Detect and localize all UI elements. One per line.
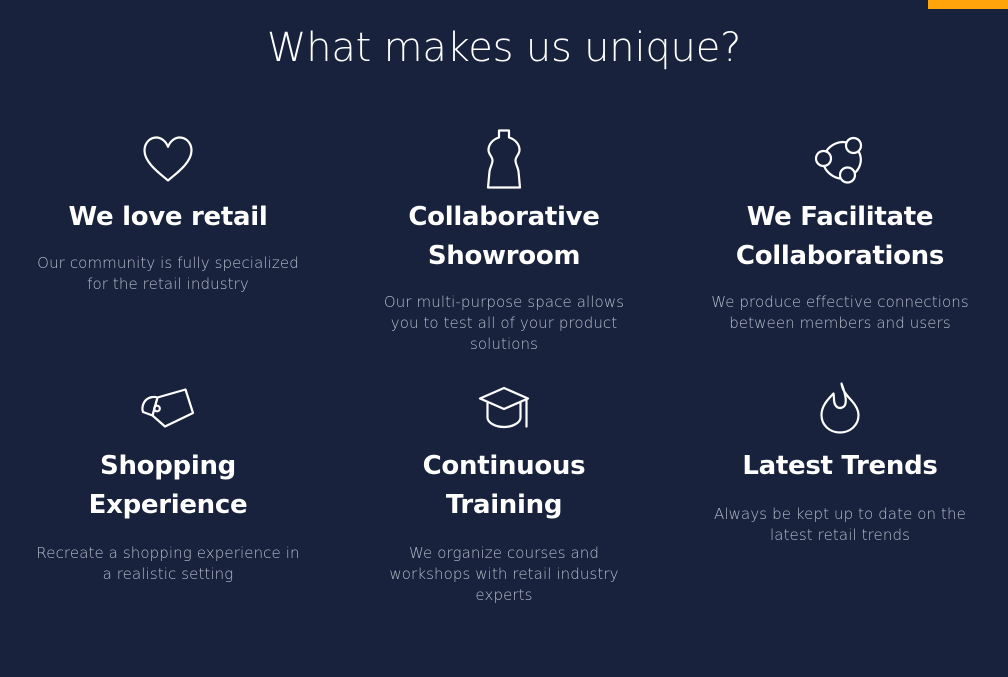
feature-title: We love retail xyxy=(28,198,308,237)
feature-description: We organize courses and workshops with r… xyxy=(364,543,644,606)
feature-card-continuous-training: Continuous Training We organize courses … xyxy=(336,369,672,606)
feature-title: Latest Trends xyxy=(700,447,980,486)
feature-description: Always be kept up to date on the latest … xyxy=(700,504,980,546)
feature-card-we-love-retail: We love retail Our community is fully sp… xyxy=(0,120,336,355)
flame-icon xyxy=(700,369,980,447)
heart-icon xyxy=(28,120,308,198)
feature-description: Recreate a shopping experience in a real… xyxy=(28,543,308,585)
feature-title: We Facilitate Collaborations xyxy=(700,198,980,276)
price-tag-icon xyxy=(28,369,308,447)
unique-features-section: What makes us unique? We love retail Our… xyxy=(0,0,1008,677)
feature-card-shopping-experience: Shopping Experience Recreate a shopping … xyxy=(0,369,336,606)
feature-card-we-facilitate-collaborations: We Facilitate Collaborations We produce … xyxy=(672,120,1008,355)
mannequin-icon xyxy=(364,120,644,198)
collaboration-network-icon xyxy=(700,120,980,198)
page-title: What makes us unique? xyxy=(0,21,1008,75)
feature-title: Collaborative Showroom xyxy=(364,198,644,276)
feature-title: Shopping Experience xyxy=(28,447,308,525)
top-right-accent-bar xyxy=(928,0,1008,9)
feature-description: We produce effective connections between… xyxy=(700,292,980,334)
feature-description: Our multi-purpose space allows you to te… xyxy=(364,292,644,355)
feature-title: Continuous Training xyxy=(364,447,644,525)
feature-description: Our community is fully specialized for t… xyxy=(28,253,308,295)
feature-card-collaborative-showroom: Collaborative Showroom Our multi-purpose… xyxy=(336,120,672,355)
feature-card-latest-trends: Latest Trends Always be kept up to date … xyxy=(672,369,1008,606)
features-grid: We love retail Our community is fully sp… xyxy=(0,120,1008,606)
graduation-cap-icon xyxy=(364,369,644,447)
